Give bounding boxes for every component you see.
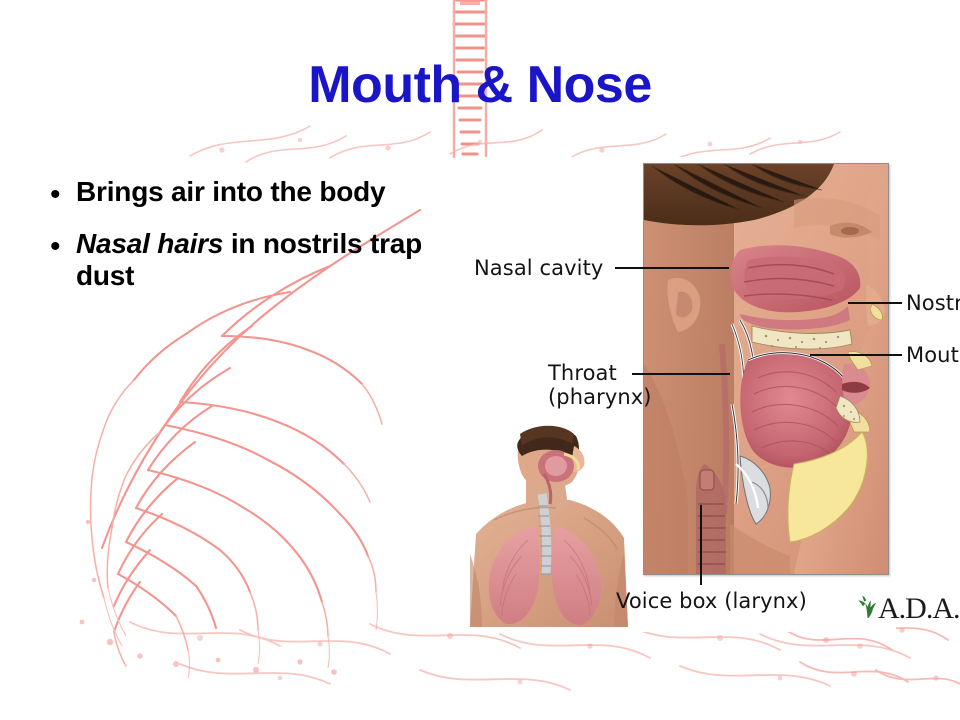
adam-logo: A.D.A.M. bbox=[858, 594, 960, 624]
label-throat-line2: (pharynx) bbox=[548, 386, 652, 410]
bullet-list: • Brings air into the body • Nasal hairs… bbox=[46, 176, 436, 307]
leader-line-nasal-cavity bbox=[615, 267, 729, 269]
slide-canvas: Mouth & Nose • Brings air into the body … bbox=[0, 0, 960, 720]
label-throat-pharynx: Throat (pharynx) bbox=[548, 362, 652, 409]
bullet-marker: • bbox=[46, 228, 76, 266]
label-nostril: Nostril bbox=[906, 291, 960, 315]
leader-line-mouth bbox=[810, 354, 902, 356]
bullet-emphasis: Nasal hairs bbox=[76, 228, 223, 259]
leader-line-voice-box bbox=[700, 505, 702, 585]
head-sagittal-section-photo bbox=[643, 163, 889, 575]
anatomy-figure-panel: Nasal cavity Throat (pharynx) Nostril Mo… bbox=[462, 157, 896, 632]
label-nasal-cavity: Nasal cavity bbox=[474, 256, 603, 280]
leader-line-nostril bbox=[848, 302, 902, 304]
list-item: • Nasal hairs in nostrils trap dust bbox=[46, 228, 436, 293]
label-voice-box-larynx: Voice box (larynx) bbox=[616, 589, 807, 613]
bullet-marker: • bbox=[46, 176, 76, 214]
bullet-text-2: Nasal hairs in nostrils trap dust bbox=[76, 228, 436, 293]
torso-orientation-inset bbox=[464, 422, 630, 627]
bullet-text-1: Brings air into the body bbox=[76, 176, 385, 208]
label-throat-line1: Throat bbox=[548, 362, 652, 386]
label-mouth: Mouth bbox=[906, 343, 960, 367]
leaf-icon bbox=[858, 595, 877, 624]
list-item: • Brings air into the body bbox=[46, 176, 436, 214]
slide-title: Mouth & Nose bbox=[0, 58, 960, 113]
adam-wordmark: A.D.A.M. bbox=[878, 594, 960, 624]
